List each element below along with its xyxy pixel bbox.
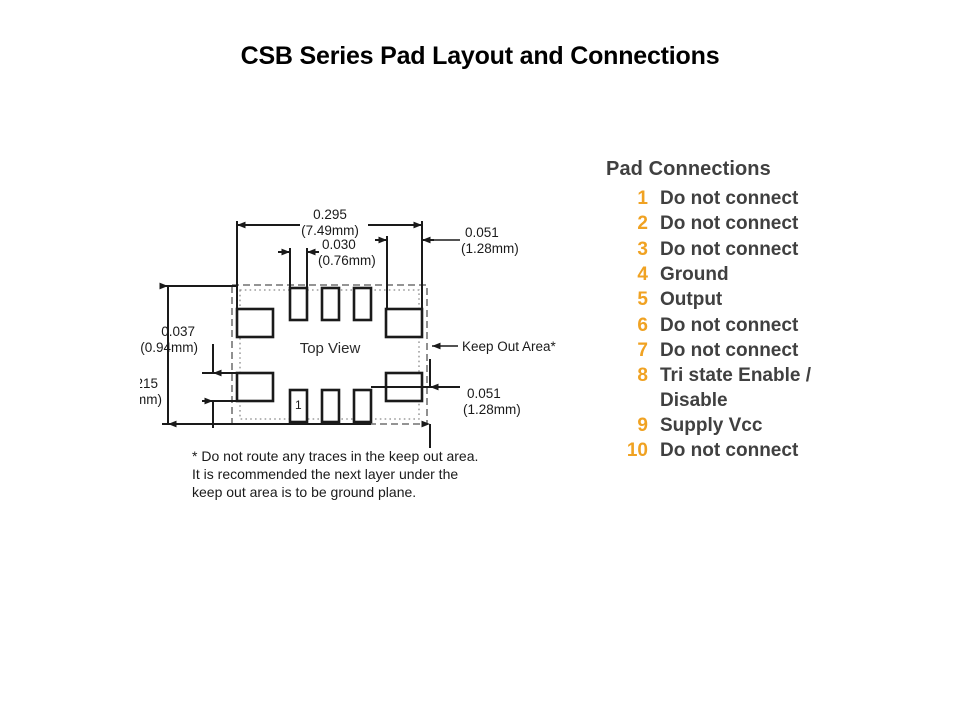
page-title: CSB Series Pad Layout and Connections bbox=[0, 42, 960, 71]
dim-pad-width-inch: 0.030 bbox=[322, 237, 356, 252]
pad-connection-row-3: 3 Do not connect bbox=[606, 238, 926, 262]
pad-layout-drawing: 1 Top View 0.295 (7.49mm) 0.030 (0.76mm)… bbox=[140, 196, 570, 506]
pad-label-3: Do not connect bbox=[660, 238, 870, 262]
pad-connection-row-8: 8 Tri state Enable / Disable bbox=[606, 364, 926, 413]
pad-connections-panel: Pad Connections 1 Do not connect 2 Do no… bbox=[606, 158, 926, 464]
pad-number-1: 1 bbox=[606, 187, 660, 211]
pad-connection-row-2: 2 Do not connect bbox=[606, 212, 926, 236]
pad-connection-row-9: 9 Supply Vcc bbox=[606, 414, 926, 438]
pad-label-7: Do not connect bbox=[660, 339, 870, 363]
top-view-label: Top View bbox=[300, 340, 361, 357]
slide-canvas: CSB Series Pad Layout and Connections bbox=[0, 0, 960, 720]
keep-out-area-label: Keep Out Area* bbox=[462, 339, 557, 354]
pad-top-3 bbox=[354, 288, 371, 320]
dim-bottom-pad-inch: 0.051 bbox=[467, 386, 501, 401]
pad-top-1 bbox=[290, 288, 307, 320]
pad-label-1: Do not connect bbox=[660, 187, 870, 211]
dim-corner-pad-height-mm: (0.94mm) bbox=[140, 340, 198, 355]
footnote-line-3: keep out area is to be ground plane. bbox=[192, 484, 416, 500]
pad-connections-heading: Pad Connections bbox=[606, 158, 926, 181]
dim-pitch-right-mm: (1.28mm) bbox=[461, 241, 519, 256]
pad-corner-left-top bbox=[237, 309, 273, 337]
dim-pad-width-mm: (0.76mm) bbox=[318, 253, 376, 268]
pad-bottom-2 bbox=[322, 390, 339, 422]
pad-connection-row-10: 10 Do not connect bbox=[606, 439, 926, 463]
pad-connection-row-4: 4 Ground bbox=[606, 263, 926, 287]
pad-number-9: 9 bbox=[606, 414, 660, 438]
pad-number-2: 2 bbox=[606, 212, 660, 236]
dim-overall-height-mm: (5.46mm) bbox=[140, 392, 162, 407]
dim-overall-width-mm: (7.49mm) bbox=[301, 223, 359, 238]
pad-number-5: 5 bbox=[606, 288, 660, 312]
pin-1-label: 1 bbox=[295, 398, 302, 412]
pad-label-9: Supply Vcc bbox=[660, 414, 870, 438]
pad-label-4: Ground bbox=[660, 263, 870, 287]
pad-connection-row-1: 1 Do not connect bbox=[606, 187, 926, 211]
dim-bottom-pad-mm: (1.28mm) bbox=[463, 402, 521, 417]
dim-corner-pad-height-inch: 0.037 bbox=[161, 324, 195, 339]
footnote-line-2: It is recommended the next layer under t… bbox=[192, 466, 458, 482]
pad-label-2: Do not connect bbox=[660, 212, 870, 236]
pad-corner-left-bottom bbox=[237, 373, 273, 401]
dim-overall-height-inch: 0.215 bbox=[140, 376, 158, 391]
footnote-line-1: * Do not route any traces in the keep ou… bbox=[192, 448, 478, 464]
pad-label-5: Output bbox=[660, 288, 870, 312]
pad-number-7: 7 bbox=[606, 339, 660, 363]
pad-number-10: 10 bbox=[606, 439, 660, 463]
pad-number-6: 6 bbox=[606, 314, 660, 338]
pad-connection-row-5: 5 Output bbox=[606, 288, 926, 312]
pad-corner-right-top bbox=[386, 309, 422, 337]
pad-connection-row-6: 6 Do not connect bbox=[606, 314, 926, 338]
dim-overall-width-inch: 0.295 bbox=[313, 207, 347, 222]
pad-number-4: 4 bbox=[606, 263, 660, 287]
pad-label-10: Do not connect bbox=[660, 439, 870, 463]
dim-pitch-right-inch: 0.051 bbox=[465, 225, 499, 240]
pad-number-8: 8 bbox=[606, 364, 660, 388]
pad-connection-row-7: 7 Do not connect bbox=[606, 339, 926, 363]
pad-number-3: 3 bbox=[606, 238, 660, 262]
pad-bottom-3 bbox=[354, 390, 371, 422]
pad-label-6: Do not connect bbox=[660, 314, 870, 338]
pad-top-2 bbox=[322, 288, 339, 320]
pad-label-8: Tri state Enable / Disable bbox=[660, 364, 870, 413]
